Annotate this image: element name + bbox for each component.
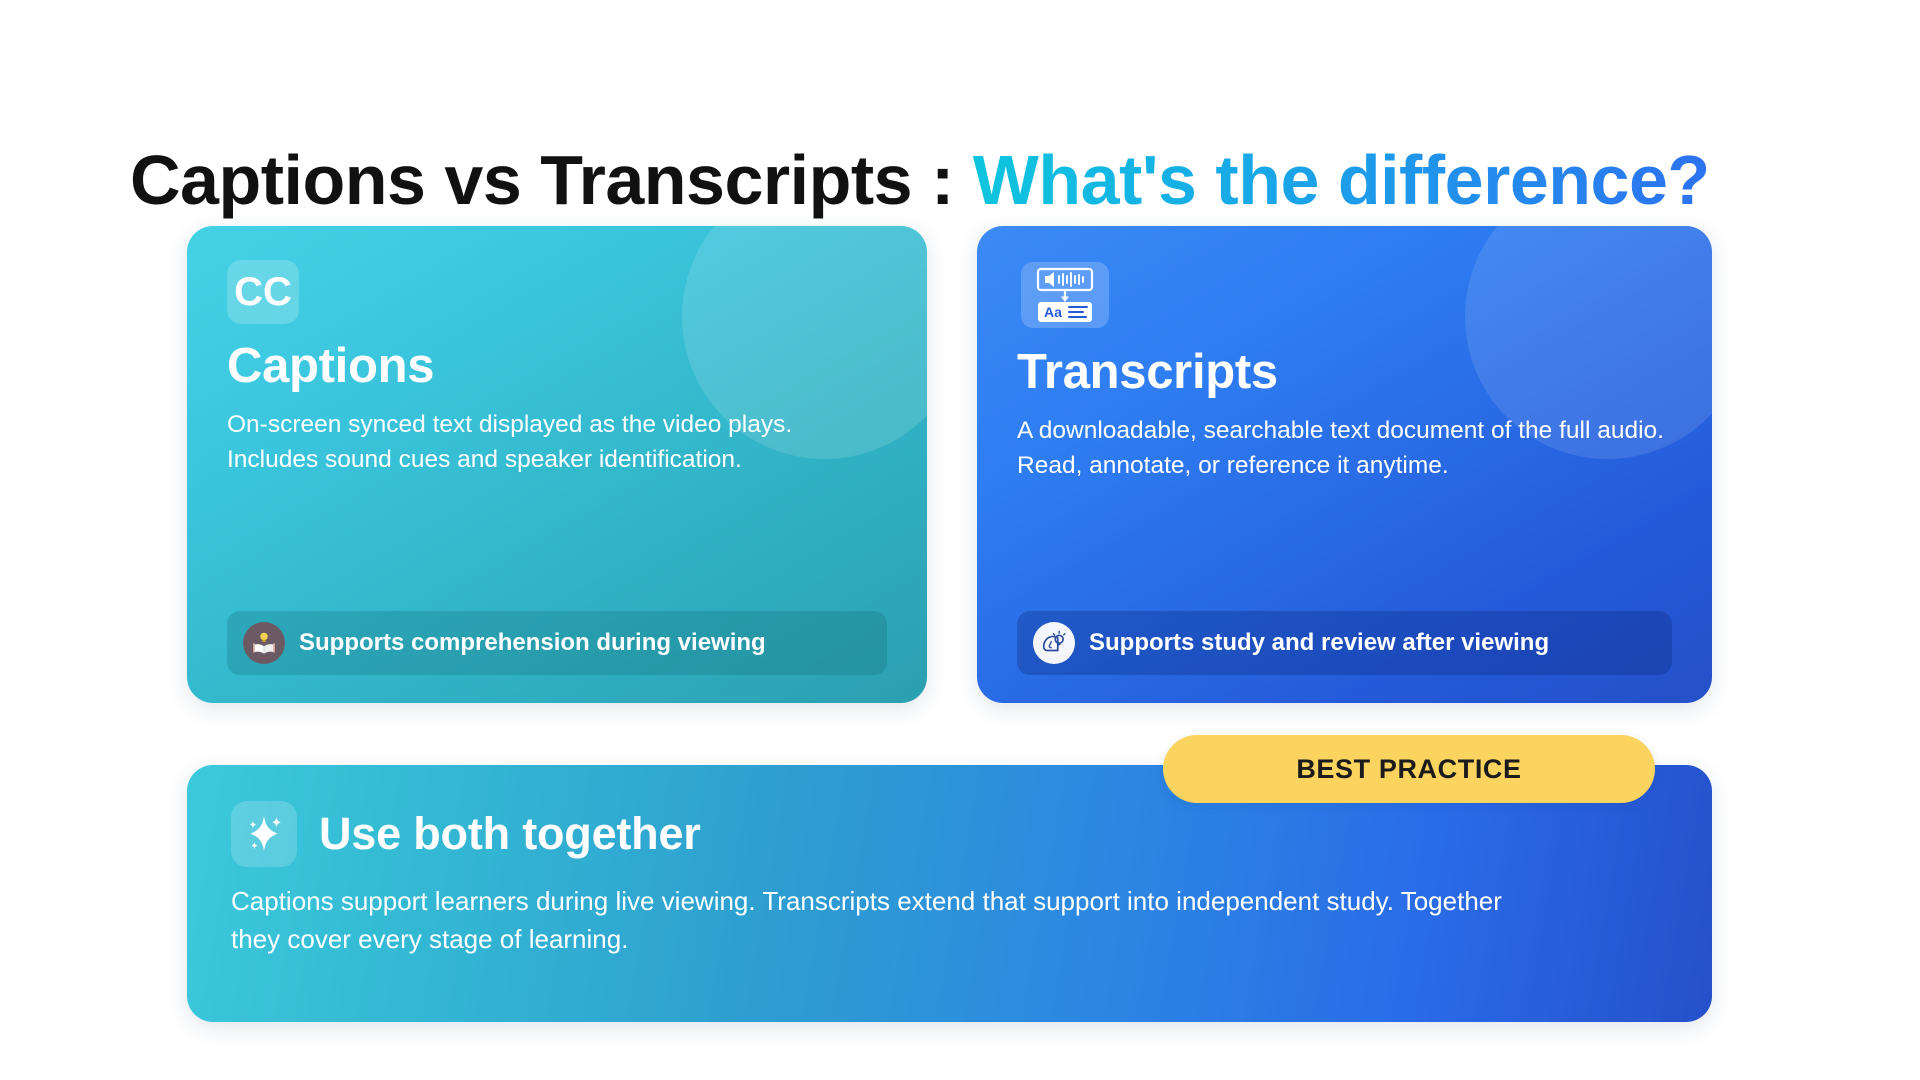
transcripts-support-badge: Supports study and review after viewing [1017, 611, 1672, 675]
book-lightbulb-icon [243, 622, 285, 664]
captions-card-heading: Captions [227, 340, 887, 394]
page-title: Captions vs Transcripts : What's the dif… [130, 143, 1810, 217]
captions-support-badge-text: Supports comprehension during viewing [299, 629, 766, 657]
best-practice-badge: BEST PRACTICE [1163, 735, 1655, 803]
infographic-page: Captions vs Transcripts : What's the dif… [0, 0, 1920, 1080]
page-title-dark-part: Captions vs Transcripts : [130, 141, 973, 219]
head-lightbulb-icon [1033, 622, 1075, 664]
use-both-together-card[interactable]: Use both together Captions support learn… [187, 765, 1712, 1022]
captions-support-badge: Supports comprehension during viewing [227, 611, 887, 675]
transcripts-card-heading: Transcripts [1017, 346, 1672, 400]
captions-card-body: On-screen synced text displayed as the v… [227, 408, 817, 478]
best-practice-badge-label: BEST PRACTICE [1296, 754, 1521, 785]
cc-icon-label: CC [234, 272, 292, 312]
page-title-gradient-part: What's the difference? [973, 141, 1710, 219]
captions-card[interactable]: CC Captions On-screen synced text displa… [187, 226, 927, 703]
transcripts-card[interactable]: Aa Transcripts A downloadable, searchabl… [977, 226, 1712, 703]
cc-icon: CC [227, 260, 299, 324]
use-both-together-heading: Use both together [319, 809, 701, 859]
audio-to-text-icon: Aa [1017, 260, 1113, 330]
transcripts-support-badge-text: Supports study and review after viewing [1089, 629, 1549, 657]
svg-text:Aa: Aa [1044, 304, 1062, 320]
sparkles-icon [231, 801, 297, 867]
transcripts-card-body: A downloadable, searchable text document… [1017, 414, 1672, 484]
use-both-together-header: Use both together [231, 801, 1668, 867]
use-both-together-body: Captions support learners during live vi… [231, 883, 1521, 958]
